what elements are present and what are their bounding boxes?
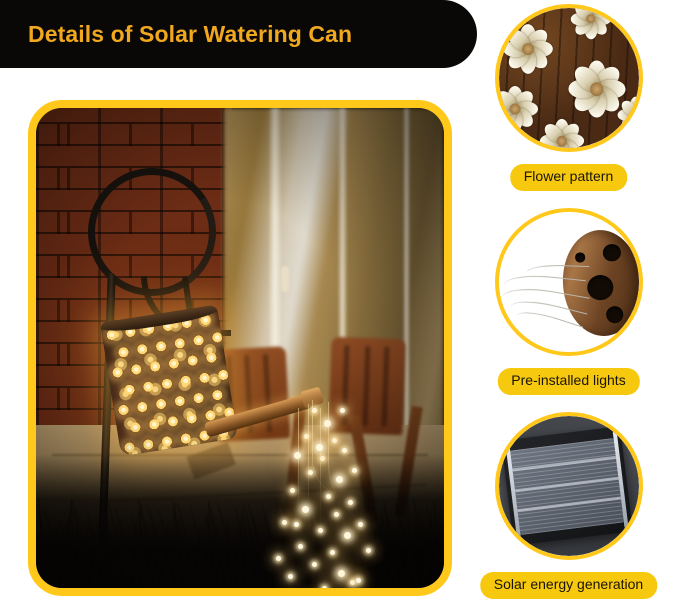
circle-photo: [499, 212, 639, 352]
can-flower-light: [134, 341, 151, 358]
led-bulb: [356, 578, 361, 583]
can-flower-light: [164, 413, 181, 430]
flower-center: [632, 110, 639, 119]
daisy-cutout: [501, 22, 555, 76]
can-flower-light: [115, 344, 132, 361]
label-flower-pattern: Flower pattern: [510, 164, 627, 191]
led-bulb: [338, 570, 345, 577]
solar-panel-closeup: [495, 412, 643, 560]
cell-busbar: [515, 476, 618, 492]
detail-solar-energy-generation: Solar energy generation: [458, 412, 679, 560]
photovoltaic-cell: [511, 437, 624, 534]
hero-image-frame: [28, 100, 452, 596]
grass-blade: [443, 538, 444, 588]
detail-pre-installed-lights: Pre-installed lights: [458, 208, 679, 356]
label-solar-energy-generation: Solar energy generation: [480, 572, 657, 599]
label-text: Flower pattern: [524, 168, 613, 184]
led-bulb: [294, 522, 299, 527]
flower-center: [510, 103, 521, 114]
can-flower-light: [146, 416, 163, 433]
label-pre-installed-lights: Pre-installed lights: [497, 368, 639, 395]
led-bulb: [288, 574, 293, 579]
can-flower-light: [171, 335, 188, 352]
detail-flower-pattern: Flower pattern: [458, 4, 679, 152]
label-text: Solar energy generation: [494, 576, 643, 592]
led-bulb: [336, 476, 343, 483]
can-flower-light: [171, 392, 188, 409]
led-bulb: [340, 408, 345, 413]
led-bulb: [332, 438, 337, 443]
can-flower-light: [134, 398, 151, 415]
can-flower-light: [158, 375, 175, 392]
led-bulb: [366, 548, 371, 553]
led-bulb: [334, 512, 339, 517]
solar-panel-housing: [501, 426, 633, 546]
led-bulb: [312, 408, 317, 413]
label-text: Pre-installed lights: [511, 372, 625, 388]
led-bulb: [312, 562, 317, 567]
door-handle: [281, 266, 289, 292]
can-flower-light: [209, 387, 226, 404]
led-bulb: [304, 434, 309, 439]
led-bulb: [320, 456, 325, 461]
flower-center: [586, 14, 596, 24]
led-bulb: [324, 420, 331, 427]
cap-hole: [586, 274, 614, 301]
flower-pattern-closeup: [495, 4, 643, 152]
led-bulb: [308, 470, 313, 475]
led-bulb: [344, 532, 351, 539]
can-flower-light: [140, 436, 157, 453]
can-flower-light: [190, 332, 207, 349]
can-flower-light: [147, 358, 164, 375]
led-bulb: [326, 494, 331, 499]
can-flower-light: [183, 410, 200, 427]
title-banner: Details of Solar Watering Can: [0, 0, 477, 68]
circle-photo: [499, 8, 639, 148]
led-bulb: [302, 506, 309, 513]
can-flower-light: [165, 355, 182, 372]
led-wire-strand: [526, 264, 588, 280]
can-flower-light: [158, 433, 175, 450]
can-flower-light: [177, 372, 194, 389]
door-frame-post: [403, 108, 410, 444]
cap-hole: [603, 244, 621, 262]
led-bulb: [358, 522, 363, 527]
led-bulb: [352, 468, 357, 473]
cell-busbar: [513, 456, 616, 472]
flower-center: [522, 43, 534, 55]
grass-blade: [261, 503, 285, 588]
can-flower-light: [115, 401, 132, 418]
led-bulb: [298, 544, 303, 549]
led-bulb: [318, 528, 323, 533]
led-bulb: [316, 444, 323, 451]
can-flower-light: [190, 390, 207, 407]
can-flower-light: [153, 395, 170, 412]
flower-center: [590, 83, 604, 97]
can-flower-light: [140, 378, 157, 395]
can-flower-light: [177, 430, 194, 447]
grass-silhouette: [36, 454, 444, 588]
flower-center: [556, 136, 567, 147]
solar-watering-can-night-scene: [36, 108, 444, 588]
can-flower-light: [109, 364, 126, 381]
cap-hole: [575, 253, 585, 263]
detail-callout-column: Flower pattern: [458, 0, 679, 611]
led-bulb: [282, 520, 287, 525]
led-bulb: [276, 556, 281, 561]
can-flower-light: [184, 352, 201, 369]
can-flower-light: [203, 349, 220, 366]
can-flower-light: [127, 419, 144, 436]
led-bulb: [342, 448, 347, 453]
led-bulb: [330, 550, 335, 555]
led-bulb: [350, 580, 355, 585]
cap-hole: [605, 305, 623, 323]
pre-installed-lights-closeup: [495, 208, 643, 356]
page-title: Details of Solar Watering Can: [28, 21, 352, 48]
led-bulb: [294, 452, 301, 459]
can-flower-light: [152, 338, 169, 355]
can-flower-light: [196, 369, 213, 386]
cell-busbar: [518, 497, 621, 513]
grass-blade: [36, 570, 38, 588]
infographic-page: Details of Solar Watering Can: [0, 0, 679, 611]
led-bulb: [290, 488, 295, 493]
circle-photo: [499, 416, 639, 556]
led-bulb: [322, 586, 327, 588]
led-bulb: [348, 500, 353, 505]
can-flower-light: [128, 361, 145, 378]
can-flower-light: [121, 381, 138, 398]
